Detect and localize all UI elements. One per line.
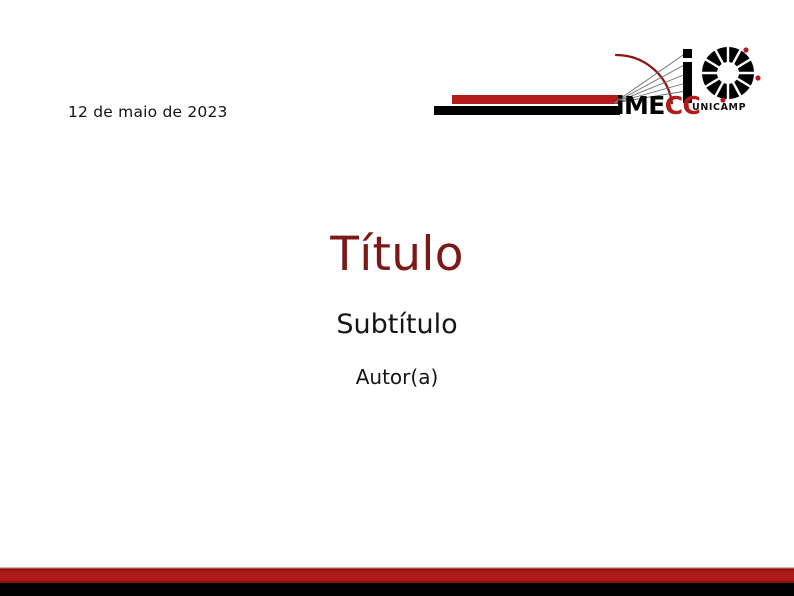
page-title: Título <box>0 226 794 284</box>
footer-black-bar <box>0 583 794 596</box>
imecc-unicamp-logo: iMECC UNICAMP <box>430 45 766 125</box>
logo-wordmark-dark: iME <box>616 91 665 120</box>
logo-wordmark: iMECC <box>616 92 704 120</box>
page-author: Autor(a) <box>0 364 794 390</box>
title-block: Título Subtítulo Autor(a) <box>0 226 794 390</box>
title-slide: 12 de maio de 2023 <box>0 0 794 596</box>
logo-unicamp-caption: UNICAMP <box>692 102 746 113</box>
logo-black-rule <box>434 106 620 115</box>
logo-red-rule <box>452 95 620 104</box>
slide-date: 12 de maio de 2023 <box>68 103 228 121</box>
page-subtitle: Subtítulo <box>0 308 794 342</box>
footer-red-bar <box>0 567 794 583</box>
unicamp-ring-icon <box>701 46 761 103</box>
